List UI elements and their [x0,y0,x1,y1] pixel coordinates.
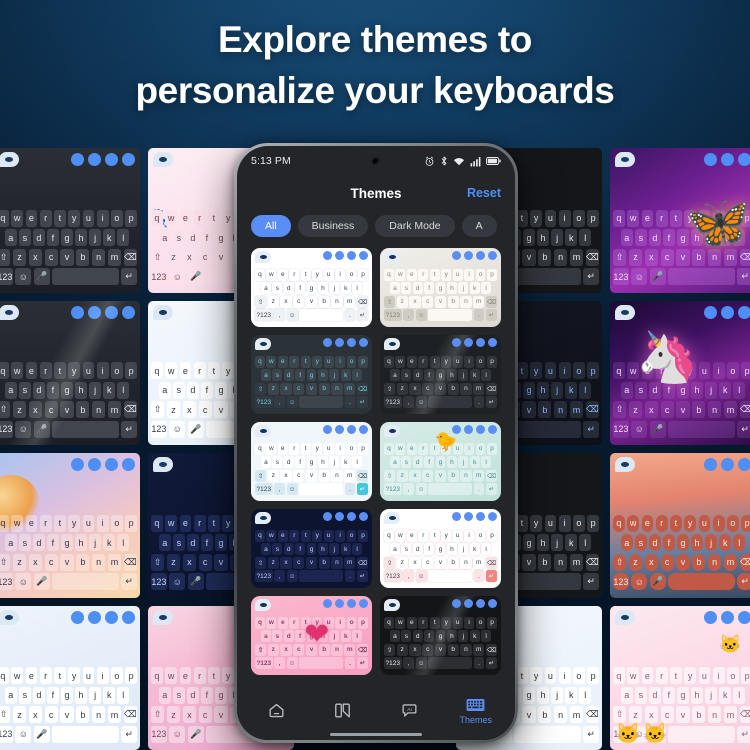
numeric-key: 123 [151,726,167,743]
key-n: n [331,644,342,656]
space-key [514,573,581,590]
key-f: f [424,543,434,555]
key-x: x [645,401,658,418]
key-j: j [89,687,101,704]
key-z: z [13,249,26,266]
key-a: a [390,282,400,294]
key-z: z [397,557,408,569]
space-key [428,570,472,582]
numeric-key: 123 [613,726,629,743]
key-v: v [522,401,535,418]
key-c: c [45,554,58,571]
nav-item-ai-chat[interactable]: AI [376,701,443,722]
key-h: h [537,229,549,246]
key-y: y [68,210,80,227]
app-header: Themes Reset [237,176,515,210]
translate-icon [323,599,332,608]
period-key: . [345,570,356,582]
key-p: p [358,530,368,542]
key-c: c [422,470,433,482]
emoji-key: ☺ [287,483,298,495]
key-f: f [47,687,59,704]
key-x: x [280,557,291,569]
key-o: o [573,667,585,684]
key-s: s [635,534,647,551]
key-k: k [103,687,115,704]
key-j: j [329,282,339,294]
key-a: a [159,687,171,704]
key-o: o [573,210,585,227]
theme-card-gloss-black[interactable]: qwertyuiopasdfghjkl⇧zxcvbnm⌫?123,☺.↵ [380,596,501,675]
translate-icon [323,425,332,434]
space-key [668,421,735,438]
key-b: b [319,383,330,395]
key-d: d [187,229,199,246]
key-g: g [436,543,446,555]
translate-icon [452,251,461,260]
mic-key: 🎤 [650,726,666,743]
key-e: e [278,443,288,455]
preview-key-row: ⇧zxcvbnm⌫ [255,383,368,395]
key-g: g [307,630,317,642]
key-h: h [75,229,87,246]
key-c: c [661,249,674,266]
nav-item-themes[interactable]: Themes [443,697,510,725]
key-n: n [554,706,567,723]
key-v: v [522,706,535,723]
theme-card-dark-teal[interactable]: qwertyuiopasdfghjkl⇧zxcvbnm⌫?123,☺.↵ [251,335,372,414]
preview-key-row: ?123,☺.↵ [255,570,368,582]
enter-key: ↵ [583,268,599,285]
key-y: y [684,210,696,227]
key-w: w [627,667,639,684]
tile-keyboard: qwertyuiop asdfghjkl ⇧zxcvbnm⌫ 123☺🎤↵ [610,148,750,293]
reset-button[interactable]: Reset [467,186,501,200]
key-r: r [418,530,428,542]
key-e: e [180,362,192,379]
comma-key: , [274,657,285,669]
key-n: n [331,557,342,569]
key-q: q [613,210,625,227]
nav-item-stickers[interactable] [310,701,377,722]
emoji-key: ☺ [15,726,31,743]
space-key [299,657,343,669]
preview-key-row: ?123,☺.↵ [255,483,368,495]
numeric-key: 123 [151,268,167,285]
key-p: p [741,515,750,532]
key-l: l [579,382,591,399]
card-toolbar [452,251,497,260]
key-j: j [705,382,717,399]
key-r: r [289,530,299,542]
key-o: o [476,530,486,542]
shift-key: ⇧ [384,296,395,308]
period-key: . [345,396,356,408]
key-p: p [741,362,750,379]
key-i: i [559,515,571,532]
emoji-key: ☺ [416,570,427,582]
key-h: h [318,543,328,555]
key-s: s [173,534,185,551]
card-toolbar [323,599,368,608]
translate-icon [452,512,461,521]
theme-card-white-clean[interactable]: qwertyuiopasdfghjkl⇧zxcvbnm⌫?123,☺.↵ [251,248,372,327]
key-g: g [307,456,317,468]
enter-key: ↵ [357,396,368,408]
key-m: m [724,401,737,418]
key-w: w [266,356,276,368]
filter-chip-partial[interactable]: A [462,215,497,237]
key-k: k [341,456,351,468]
grid-icon [359,425,368,434]
key-o: o [111,667,123,684]
backspace-key: ⌫ [740,401,750,418]
key-c: c [45,706,58,723]
theme-card-deep-navy[interactable]: qwertyuiopasdfghjkl⇧zxcvbnm⌫?123,☺.↵ [251,509,372,588]
mic-key: 🎤 [650,268,666,285]
key-i: i [713,210,725,227]
key-t: t [670,515,682,532]
key-v: v [676,401,689,418]
background-tile-dark-gray-keyboard-2: qwertyuiop asdfghjkl ⇧zxcvbnm⌫ 123☺🎤↵ [0,301,140,446]
card-logo-icon [255,512,271,524]
mic-icon [476,599,485,608]
key-n: n [92,554,105,571]
key-o: o [347,356,357,368]
key-m: m [570,706,583,723]
key-n: n [554,554,567,571]
key-v: v [435,296,446,308]
theme-card-pink-hearts[interactable]: qwertyuiopasdfghjkl⇧zxcvbnm⌫?123,☺.↵ ❤ [251,596,372,675]
key-y: y [530,515,542,532]
key-m: m [108,554,121,571]
nav-label-themes: Themes [459,715,492,725]
tile-key-row-1: qwertyuiop [613,210,750,227]
key-q: q [255,356,265,368]
translate-icon [323,338,332,347]
numeric-key: ?123 [384,570,402,582]
numeric-key: ?123 [255,396,273,408]
key-d: d [649,687,661,704]
key-l: l [733,382,745,399]
key-c: c [661,554,674,571]
key-j: j [705,534,717,551]
preview-key-row: ⇧zxcvbnm⌫ [384,470,497,482]
enter-key: ↵ [737,726,750,743]
numeric-key: 123 [613,421,629,438]
mic-icon [347,251,356,260]
key-u: u [83,667,95,684]
key-o: o [347,443,357,455]
mic-key: 🎤 [34,726,50,743]
key-y: y [684,667,696,684]
key-l: l [579,687,591,704]
key-u: u [545,515,557,532]
key-d: d [649,382,661,399]
emoji-key: ☺ [15,268,31,285]
key-p: p [741,210,750,227]
key-n: n [331,296,342,308]
enter-key: ↵ [121,268,137,285]
key-r: r [194,667,206,684]
key-l: l [352,282,362,294]
key-k: k [719,382,731,399]
key-r: r [418,269,428,281]
period-key: . [345,657,356,669]
key-n: n [92,706,105,723]
preview-key-row: qwertyuiop [255,617,368,629]
preview-key-row: qwertyuiop [255,443,368,455]
key-c: c [199,554,212,571]
key-z: z [268,383,279,395]
key-y: y [222,210,234,227]
key-q: q [255,443,265,455]
key-b: b [692,401,705,418]
bolt-icon [464,425,473,434]
key-k: k [719,229,731,246]
card-toolbar [452,338,497,347]
preview-key-row: asdfghjkl [255,369,368,381]
key-z: z [167,401,180,418]
key-f: f [47,229,59,246]
key-d: d [187,534,199,551]
key-a: a [5,534,17,551]
key-v: v [306,557,317,569]
bolt-icon [335,512,344,521]
nav-item-home[interactable] [243,701,310,722]
key-t: t [301,356,311,368]
shift-key: ⇧ [151,249,164,266]
tile-key-row-4: 123☺🎤↵ [0,573,137,590]
key-h: h [537,687,549,704]
key-s: s [19,229,31,246]
key-w: w [266,530,276,542]
emoji-key: ☺ [169,726,185,743]
key-h: h [691,382,703,399]
key-q: q [384,530,394,542]
key-u: u [453,269,463,281]
comma-key: , [403,570,414,582]
key-g: g [523,534,535,551]
key-y: y [312,356,322,368]
key-l: l [733,534,745,551]
key-u: u [545,362,557,379]
key-p: p [587,362,599,379]
key-l: l [352,543,362,555]
key-l: l [352,369,362,381]
mic-key: 🎤 [650,421,666,438]
key-k: k [341,630,351,642]
enter-key: ↵ [357,483,368,495]
keyboard-icon [466,697,485,713]
tile-key-row-2: asdfghjkl [613,687,750,704]
key-e: e [26,515,38,532]
grid-icon [359,251,368,260]
backspace-key: ⌫ [124,249,137,266]
key-p: p [487,443,497,455]
emoji-key: ☺ [631,573,647,590]
key-r: r [656,515,668,532]
key-e: e [278,617,288,629]
backspace-key: ⌫ [357,383,368,395]
theme-card-beige-marble[interactable]: qwertyuiopasdfghjkl⇧zxcvbnm⌫?123,☺.↵ [380,248,501,327]
filter-chip-business[interactable]: Business [298,215,369,237]
key-o: o [727,667,739,684]
key-g: g [307,369,317,381]
mic-key: 🎤 [188,421,204,438]
theme-card-charcoal[interactable]: qwertyuiopasdfghjkl⇧zxcvbnm⌫?123,☺.↵ [380,335,501,414]
key-u: u [324,269,334,281]
key-q: q [0,515,9,532]
key-o: o [347,269,357,281]
card-logo-icon [255,338,271,350]
key-y: y [222,667,234,684]
numeric-key: ?123 [255,309,273,321]
key-k: k [565,229,577,246]
key-u: u [545,667,557,684]
space-key [52,573,119,590]
key-b: b [76,706,89,723]
key-s: s [272,543,282,555]
phone-screen: 5:13 PM [237,146,515,740]
key-b: b [538,706,551,723]
key-g: g [307,282,317,294]
key-r: r [656,667,668,684]
key-n: n [708,706,721,723]
filter-chip-all[interactable]: All [251,215,291,237]
key-y: y [684,515,696,532]
tile-key-row-2: asdfghjkl [0,687,137,704]
key-c: c [45,249,58,266]
key-t: t [301,443,311,455]
key-g: g [523,382,535,399]
key-r: r [40,515,52,532]
status-clock: 5:13 PM [251,155,291,167]
key-g: g [677,229,689,246]
space-key [299,570,343,582]
key-e: e [180,515,192,532]
card-logo-icon [255,599,271,611]
key-n: n [460,296,471,308]
page-title: Explore themes to personalize your keybo… [0,14,750,116]
space-key [428,483,472,495]
key-h: h [447,456,457,468]
signal-icon [470,156,481,167]
key-d: d [413,543,423,555]
key-z: z [13,554,26,571]
tile-key-row-4: 123☺🎤↵ [0,268,137,285]
key-r: r [40,210,52,227]
bolt-icon [464,251,473,260]
key-n: n [708,401,721,418]
key-w: w [11,210,23,227]
key-h: h [318,630,328,642]
key-r: r [656,210,668,227]
key-b: b [448,557,459,569]
key-t: t [670,667,682,684]
key-g: g [215,382,227,399]
key-v: v [435,470,446,482]
preview-key-row: ?123,☺.↵ [384,570,497,582]
numeric-key: 123 [0,726,13,743]
key-d: d [33,687,45,704]
emoji-key: ☺ [287,396,298,408]
key-m: m [108,706,121,723]
key-r: r [289,356,299,368]
key-x: x [183,401,196,418]
translate-icon [452,425,461,434]
key-p: p [125,515,137,532]
key-w: w [165,210,177,227]
shift-key: ⇧ [255,470,266,482]
key-g: g [436,456,446,468]
key-s: s [401,282,411,294]
key-q: q [613,667,625,684]
key-s: s [272,282,282,294]
key-s: s [272,456,282,468]
tile-key-row-1: qwertyuiop [0,210,137,227]
key-a: a [261,543,271,555]
key-n: n [331,383,342,395]
key-h: h [691,229,703,246]
svg-text:AI: AI [407,706,412,712]
key-u: u [83,210,95,227]
key-q: q [255,269,265,281]
numeric-key: 123 [0,573,13,590]
mic-key: 🎤 [188,268,204,285]
key-d: d [284,282,294,294]
key-w: w [11,667,23,684]
card-logo-icon [255,425,271,437]
key-e: e [278,269,288,281]
key-f: f [201,382,213,399]
key-f: f [663,687,675,704]
key-q: q [151,210,163,227]
background-tile-sunset-mountain-keyboard: qwertyuiop asdfghjkl ⇧zxcvbnm⌫ 123☺🎤↵ [610,453,750,598]
key-c: c [293,296,304,308]
theme-card-mint-bubbles[interactable]: qwertyuiopasdfghjkl⇧zxcvbnm⌫?123,☺.↵ 🐤 [380,422,501,501]
space-key [668,726,735,743]
theme-card-blush-white[interactable]: qwertyuiopasdfghjkl⇧zxcvbnm⌫?123,☺.↵ [380,509,501,588]
filter-chip-row[interactable]: All Business Dark Mode A [237,210,515,242]
key-m: m [473,557,484,569]
mic-key: 🎤 [34,268,50,285]
key-t: t [670,210,682,227]
tile-key-row-3: ⇧zxcvbnm⌫ [613,706,750,723]
background-tile-unicorn-keyboard: qwertyuiop asdfghjkl ⇧zxcvbnm⌫ 123☺🎤↵ 🦄 [610,301,750,446]
key-p: p [125,667,137,684]
key-b: b [76,249,89,266]
key-y: y [312,530,322,542]
key-t: t [430,443,440,455]
key-j: j [458,282,468,294]
theme-card-pale-light[interactable]: qwertyuiopasdfghjkl⇧zxcvbnm⌫?123,☺.↵ [251,422,372,501]
key-l: l [352,456,362,468]
mic-icon [476,251,485,260]
key-o: o [476,269,486,281]
key-l: l [117,534,129,551]
grid-icon [488,425,497,434]
preview-key-row: qwertyuiop [384,269,497,281]
theme-grid[interactable]: qwertyuiopasdfghjkl⇧zxcvbnm⌫?123,☺.↵ qwe… [237,242,515,688]
preview-key-row: ⇧zxcvbnm⌫ [255,470,368,482]
preview-key-row: asdfghjkl [255,456,368,468]
tile-key-row-1: qwertyuiop [613,667,750,684]
key-u: u [324,356,334,368]
tile-keyboard: qwertyuiop asdfghjkl ⇧zxcvbnm⌫ 123☺🎤↵ [0,148,140,293]
filter-chip-dark-mode[interactable]: Dark Mode [375,215,454,237]
key-t: t [208,362,220,379]
